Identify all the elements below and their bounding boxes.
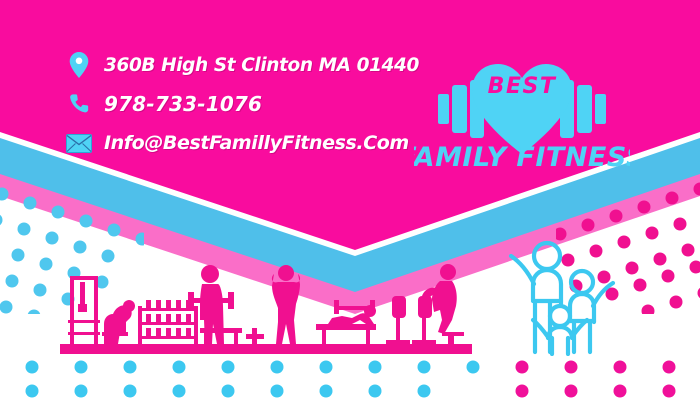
gym-equipment-silhouette xyxy=(60,262,472,354)
phone-text: 978-733-1076 xyxy=(96,92,262,116)
email-text: Info@BestFamillyFitness.Com xyxy=(96,132,409,154)
business-card: 360B High St Clinton MA 01440 978-733-10… xyxy=(0,0,700,400)
contact-row-email[interactable]: Info@BestFamillyFitness.Com xyxy=(62,126,422,160)
logo-brand-text: FAMILY FITNESS xyxy=(414,142,630,170)
address-text: 360B High St Clinton MA 01440 xyxy=(96,55,419,76)
contact-row-address[interactable]: 360B High St Clinton MA 01440 xyxy=(62,48,422,82)
dot-row-bottom xyxy=(0,356,700,400)
family-outline-icon xyxy=(498,238,618,356)
contact-block: 360B High St Clinton MA 01440 978-733-10… xyxy=(62,48,422,165)
brand-logo[interactable]: BEST FAMILY FITNESS xyxy=(414,42,630,170)
location-pin-icon xyxy=(62,52,96,78)
envelope-icon xyxy=(62,134,96,153)
contact-row-phone[interactable]: 978-733-1076 xyxy=(62,87,422,121)
phone-icon xyxy=(62,93,96,115)
logo-badge-text: BEST xyxy=(488,74,557,99)
